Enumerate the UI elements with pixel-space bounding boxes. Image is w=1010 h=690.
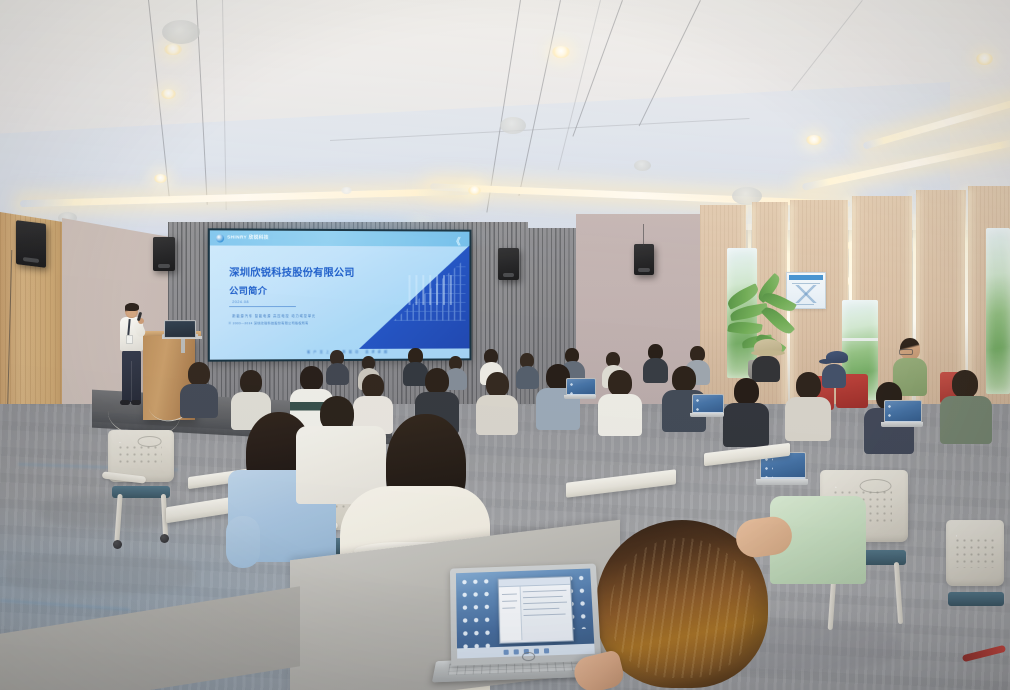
lectern-stand-leg xyxy=(181,339,185,353)
laptop-desktop-icons xyxy=(568,380,575,395)
person-head xyxy=(425,368,449,394)
person-torso xyxy=(785,397,831,441)
person-head xyxy=(240,370,262,394)
window-mullion xyxy=(842,338,878,341)
company-logo-icon xyxy=(216,234,224,242)
chair-caster xyxy=(160,534,169,543)
carpet-texture-blot xyxy=(5,554,195,594)
person-torso xyxy=(752,356,780,382)
ceiling-downlight xyxy=(976,53,993,65)
slide-divider xyxy=(229,306,296,307)
ceiling-downlight xyxy=(164,44,182,55)
person-hair-strands xyxy=(610,538,754,678)
window-row xyxy=(524,614,566,617)
ceiling-downlight xyxy=(552,46,570,58)
presenter-face xyxy=(127,310,136,317)
person-head xyxy=(486,372,509,397)
desktop-icons-left[interactable] xyxy=(459,575,497,652)
glasses-icon xyxy=(899,349,913,355)
chair-caster xyxy=(113,540,122,549)
ceiling-speaker-grille xyxy=(162,20,200,44)
slide-product-graphic-detail xyxy=(409,275,456,305)
hp-logo-icon xyxy=(522,652,535,662)
laptop-screen xyxy=(884,400,922,424)
window-row xyxy=(523,596,563,599)
ceiling-downlight xyxy=(161,89,176,99)
presenter-hair xyxy=(125,303,139,311)
chair-leg xyxy=(114,494,122,542)
wall-speaker-left xyxy=(16,220,46,268)
person-torso xyxy=(326,363,349,385)
person-torso xyxy=(723,403,769,447)
chair-handle-cutout xyxy=(138,436,162,447)
taskbar-icon[interactable] xyxy=(514,649,519,654)
person-arm xyxy=(226,516,260,568)
slide-tagline: 新能源汽车 智能电源 高压电控 动力域控单元 xyxy=(232,313,316,318)
laptop-lid xyxy=(450,564,601,666)
window-row xyxy=(523,590,567,593)
chair-perforations xyxy=(954,537,993,567)
hp-laptop[interactable] xyxy=(431,562,617,690)
chair-leg xyxy=(894,562,903,624)
laptop-keyboard-base xyxy=(756,479,808,485)
ceiling-downlight xyxy=(468,186,481,195)
speaker-cable xyxy=(643,224,644,246)
speaker-at-podium xyxy=(118,303,146,406)
presenter-badge xyxy=(126,335,133,344)
slide-footer-text: 客户至上 创新驱动 追求卓越 xyxy=(307,349,390,354)
laptop-screen xyxy=(692,394,724,415)
person-head xyxy=(734,378,759,405)
person-head xyxy=(672,366,696,392)
laptop-keyboard-base xyxy=(881,422,923,427)
ceiling-downlight xyxy=(806,135,822,145)
slide-subtitle: 公司简介 xyxy=(229,284,267,297)
chair-seat-cushion xyxy=(948,592,1004,606)
plant-leaf xyxy=(727,320,762,337)
training-chair[interactable] xyxy=(104,430,184,550)
ceiling-seam xyxy=(791,0,863,91)
person-torso xyxy=(516,366,539,389)
laptop-screen[interactable] xyxy=(456,569,595,659)
slide-header-glyph: 《 xyxy=(452,234,461,247)
wall-speaker-right xyxy=(634,244,654,275)
slide-company-name: 深圳欣锐科技股份有限公司 xyxy=(229,264,354,279)
person-torso xyxy=(940,396,992,444)
ceiling-downlight xyxy=(154,174,167,183)
taskbar-icon[interactable] xyxy=(544,648,549,653)
poster-header-band xyxy=(789,275,823,280)
person-torso xyxy=(180,384,218,418)
carpet-accent-stripe xyxy=(0,599,130,610)
lectern-laptop xyxy=(164,320,196,338)
laptop-desktop-icons xyxy=(886,402,895,421)
wall-speaker-center-right xyxy=(498,248,519,280)
company-logo-text: SHINRY 欣锐科技 xyxy=(227,234,269,240)
open-application-window[interactable] xyxy=(498,576,574,644)
person-torso xyxy=(643,358,668,383)
ceiling-speaker-grille xyxy=(634,160,651,171)
person-torso xyxy=(598,394,642,436)
person-torso xyxy=(822,364,846,388)
window-row xyxy=(523,608,559,611)
person-head xyxy=(362,374,384,398)
person-head xyxy=(300,366,323,391)
slide-date: 2024.08 xyxy=(232,300,249,304)
ceiling-downlight-off xyxy=(341,187,352,194)
slide-copyright-note: ※ 2003—2024 深圳欣锐科技股份有限公司版权所有 xyxy=(228,320,308,325)
presentation-slide: SHINRY 欣锐科技 《 深圳欣锐科技股份有限公司 公司简介 2024.08 … xyxy=(210,230,470,359)
projection-screen: SHINRY 欣锐科技 《 深圳欣锐科技股份有限公司 公司简介 2024.08 … xyxy=(208,228,472,361)
taskbar-icon[interactable] xyxy=(504,650,509,655)
window-title-bar[interactable] xyxy=(499,577,571,587)
wall-speaker-center-left xyxy=(153,237,175,271)
laptop-desktop-icons xyxy=(694,396,701,412)
window-row xyxy=(523,602,567,605)
person-head xyxy=(796,372,821,399)
person-head xyxy=(188,362,210,386)
taskbar-icon[interactable] xyxy=(534,649,539,654)
chair-perforations xyxy=(117,444,162,468)
laptop-keyboard-base xyxy=(690,413,724,417)
person-torso xyxy=(476,395,518,435)
person-head xyxy=(952,370,978,398)
laptop-keyboard-base xyxy=(564,395,596,399)
training-chair[interactable] xyxy=(946,520,1010,650)
person-head xyxy=(608,370,632,396)
window-far-right xyxy=(986,228,1010,394)
ceiling-speaker-grille xyxy=(500,117,526,134)
conference-room-photo: SHINRY 欣锐科技 《 深圳欣锐科技股份有限公司 公司简介 2024.08 … xyxy=(0,0,1010,690)
chair-backrest xyxy=(946,520,1004,586)
